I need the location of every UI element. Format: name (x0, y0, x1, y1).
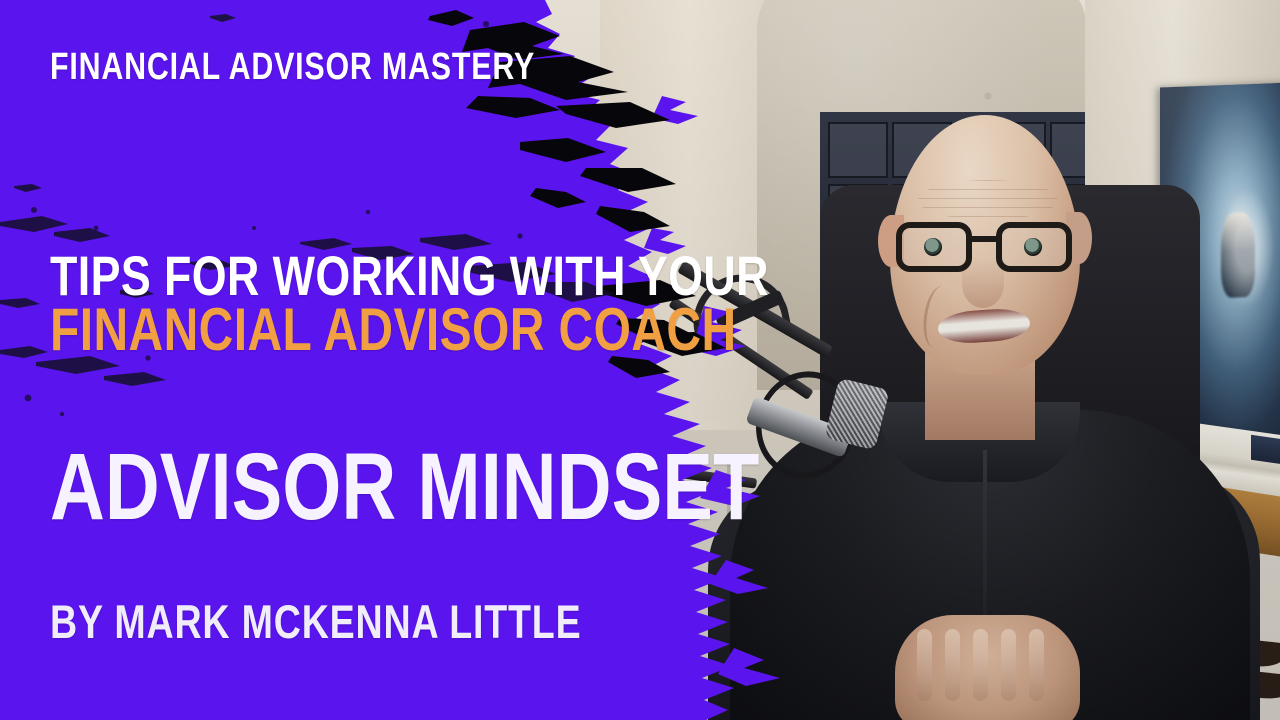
finger (1029, 629, 1044, 701)
clasped-hands (895, 615, 1080, 720)
eye-right (1024, 238, 1042, 256)
glasses-bridge (970, 236, 1002, 242)
eye-left (924, 238, 942, 256)
finger (1001, 629, 1016, 701)
finger (945, 629, 960, 701)
thumbnail-canvas: FINANCIAL ADVISOR MASTERY TIPS FOR WORKI… (0, 0, 1280, 720)
main-headline: ADVISOR MINDSET (50, 440, 759, 535)
eyeglasses-icon (896, 222, 1080, 274)
subtitle-line-2-highlight: FINANCIAL ADVISOR COACH (50, 300, 737, 360)
finger (973, 629, 988, 701)
finger (917, 629, 932, 701)
forehead-lines (918, 180, 1058, 220)
channel-kicker: FINANCIAL ADVISOR MASTERY (50, 48, 535, 86)
author-byline: BY MARK MCKENNA LITTLE (50, 598, 581, 645)
